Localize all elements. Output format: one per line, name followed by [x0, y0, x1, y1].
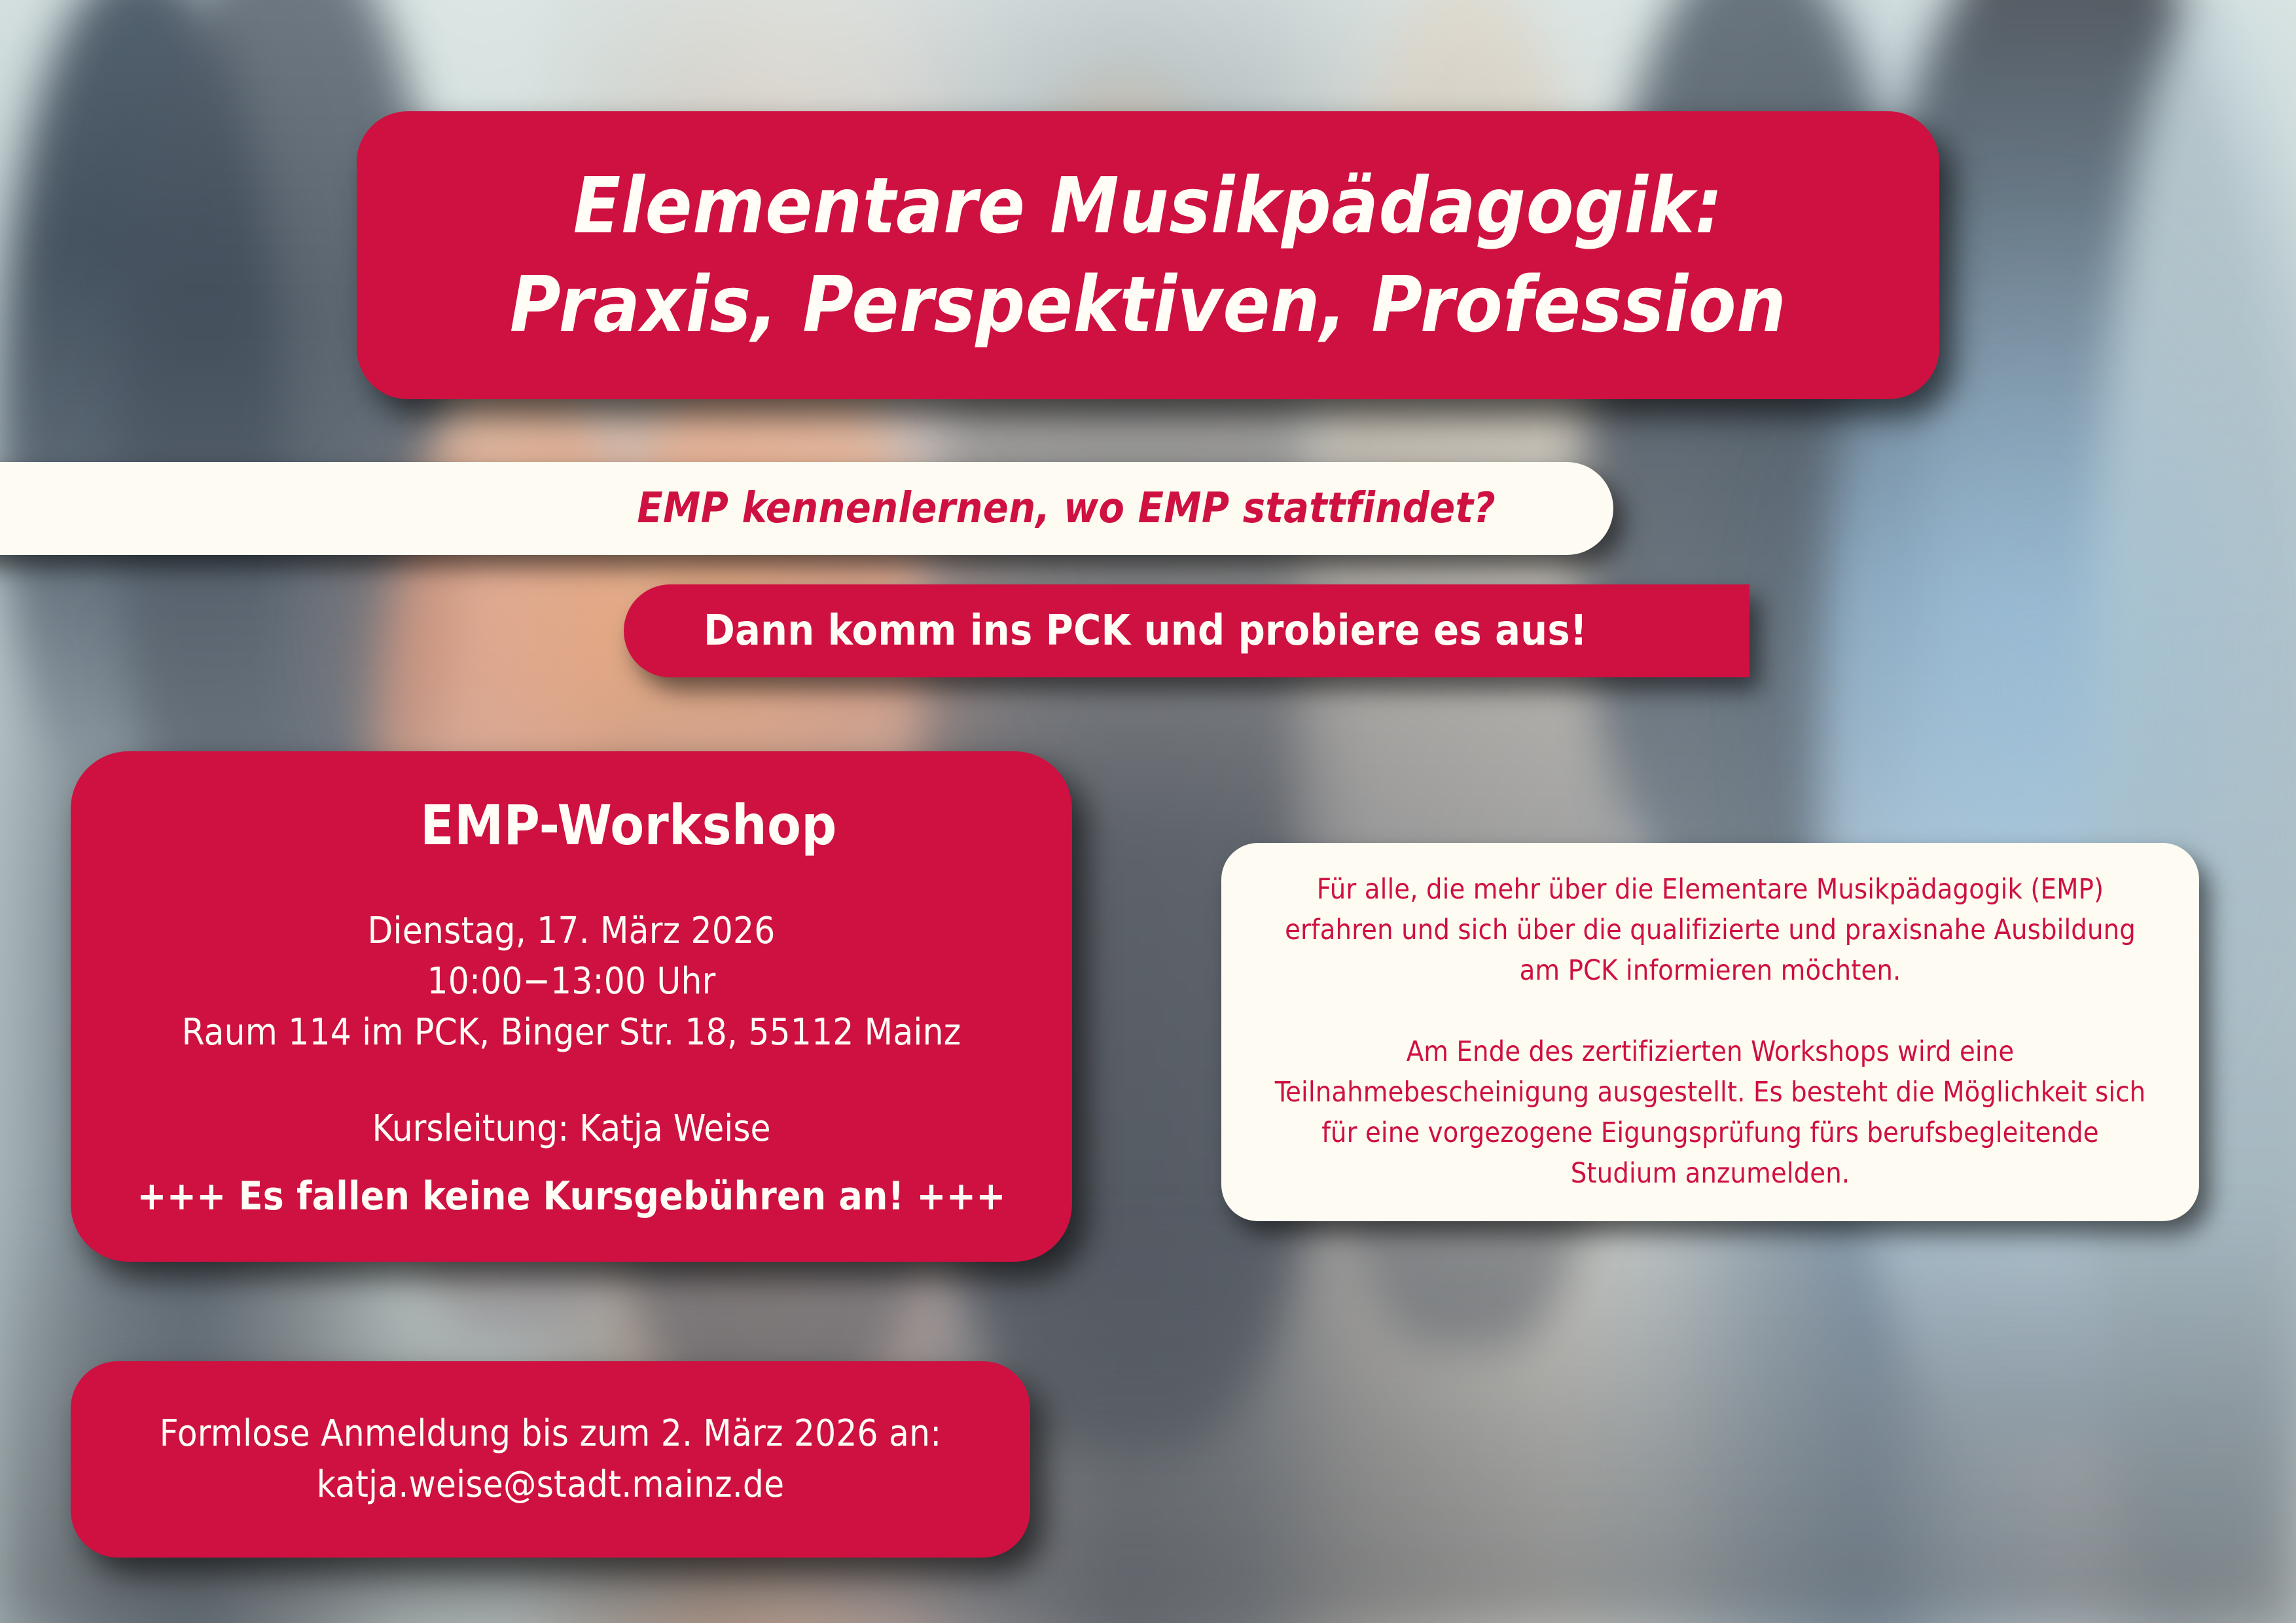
workshop-heading: EMP-Workshop	[420, 793, 837, 857]
page-title: Elementare Musikpädagogik: Praxis, Persp…	[471, 156, 1825, 354]
workshop-fee-note: +++ Es fallen keine Kursgebühren an! +++	[137, 1173, 1005, 1219]
poster-title-card: Elementare Musikpädagogik: Praxis, Persp…	[357, 111, 1939, 399]
spacer	[1267, 991, 2153, 1032]
poster-canvas: Elementare Musikpädagogik: Praxis, Persp…	[0, 0, 2296, 1623]
call-to-action-banner: Dann komm ins PCK und probiere es aus!	[624, 584, 1749, 677]
info-paragraph-1: Für alle, die mehr über die Elementare M…	[1267, 870, 2153, 991]
registration-deadline: Formlose Anmeldung bis zum 2. März 2026 …	[160, 1408, 942, 1459]
question-banner: EMP kennenlernen, wo EMP stattfindet?	[0, 462, 1613, 555]
workshop-date: Dienstag, 17. März 2026	[368, 906, 776, 956]
question-banner-text: EMP kennenlernen, wo EMP stattfindet?	[637, 484, 1613, 533]
info-paragraph-2: Am Ende des zertifizierten Workshops wir…	[1267, 1032, 2153, 1194]
registration-email[interactable]: katja.weise@stadt.mainz.de	[317, 1459, 785, 1510]
workshop-leader: Kursleitung: Katja Weise	[372, 1107, 770, 1150]
workshop-time: 10:00−13:00 Uhr	[427, 956, 715, 1007]
workshop-location: Raum 114 im PCK, Binger Str. 18, 55112 M…	[182, 1007, 961, 1058]
info-description-card: Für alle, die mehr über die Elementare M…	[1221, 843, 2199, 1221]
workshop-details-card: EMP-Workshop Dienstag, 17. März 2026 10:…	[71, 751, 1072, 1262]
registration-card: Formlose Anmeldung bis zum 2. März 2026 …	[71, 1361, 1030, 1558]
call-to-action-text: Dann komm ins PCK und probiere es aus!	[624, 607, 1587, 655]
